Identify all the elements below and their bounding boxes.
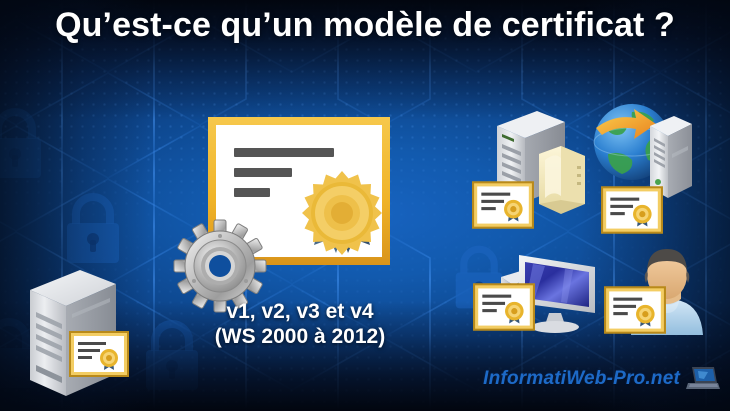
caption-line-2: (WS 2000 à 2012): [150, 325, 450, 350]
watermark: InformatiWeb-Pro.net: [483, 365, 720, 393]
laptop-icon: [684, 365, 720, 393]
page-title: Qu’est-ce qu’un modèle de certificat ?: [0, 6, 730, 45]
certificate-badge-icon: [472, 282, 536, 332]
gold-rosette-seal: [298, 169, 386, 259]
caption-line-1: v1, v2, v3 et v4: [150, 300, 450, 325]
watermark-text: InformatiWeb-Pro.net: [483, 368, 680, 390]
certificate-badge-icon: [603, 285, 667, 335]
certificate-badge-icon: [600, 185, 664, 235]
certificate-badge-icon: [68, 330, 130, 378]
certificate-badge-icon: [471, 180, 535, 230]
caption-block: v1, v2, v3 et v4 (WS 2000 à 2012): [150, 300, 450, 350]
slide-canvas: v1, v2, v3 et v4 (WS 2000 à 2012): [0, 0, 730, 411]
